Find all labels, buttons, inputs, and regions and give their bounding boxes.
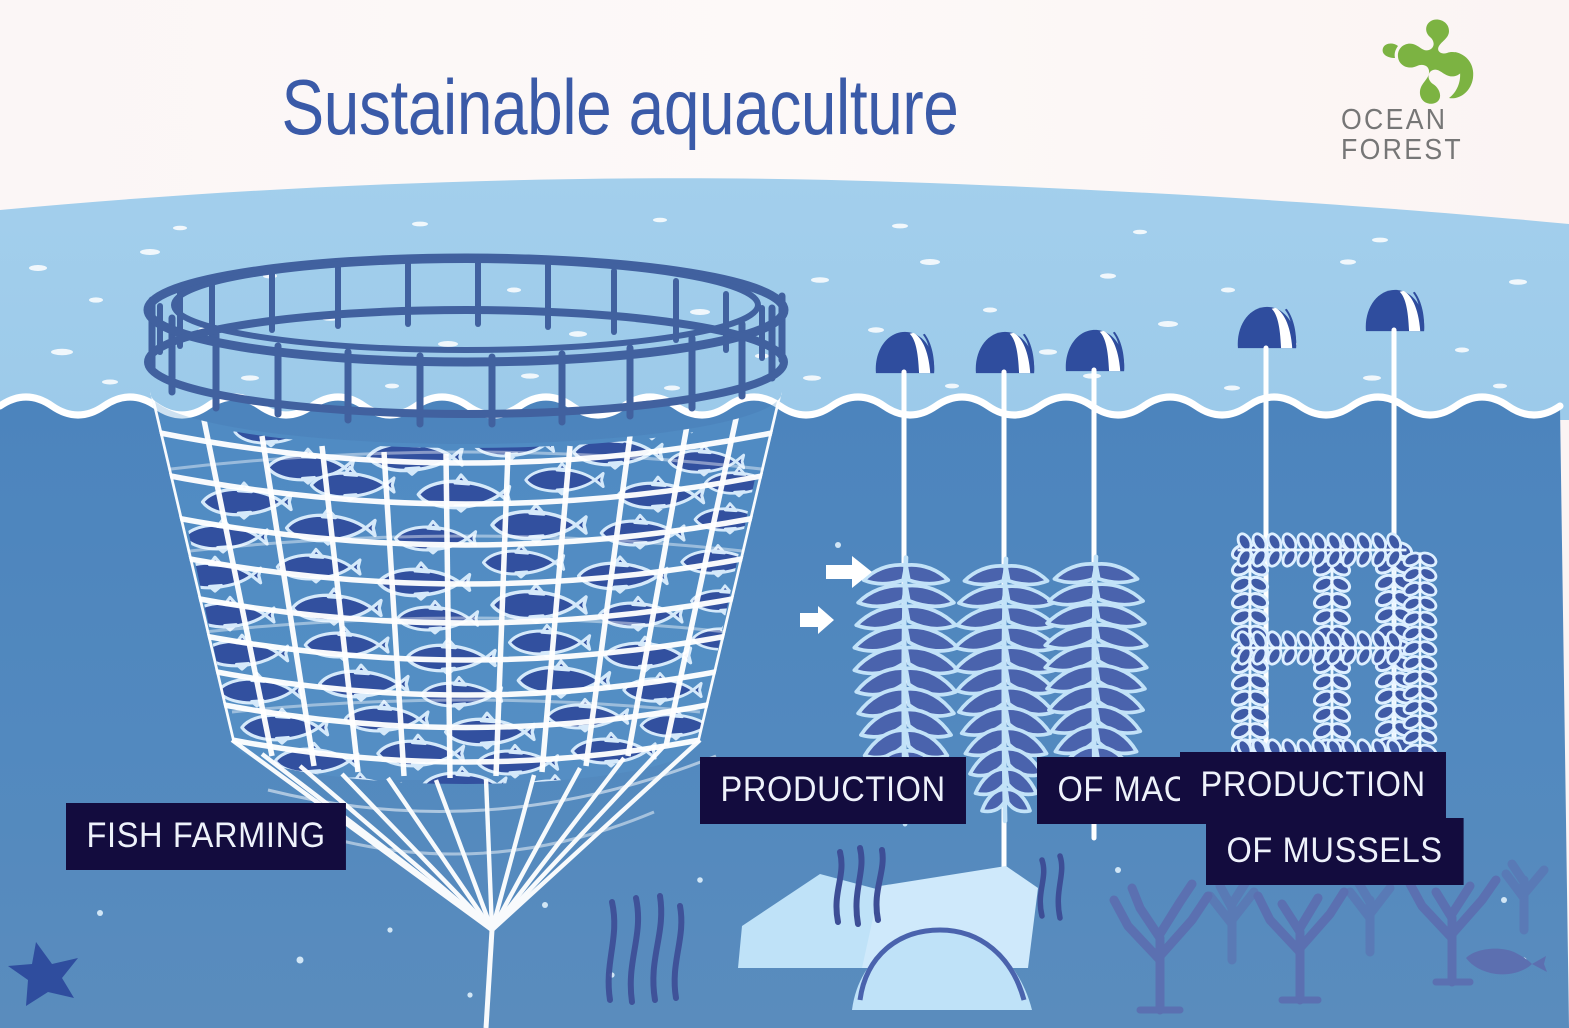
page-title: Sustainable aquaculture: [112, 62, 1129, 153]
label-mussels-line1: PRODUCTION: [1180, 752, 1446, 819]
coral-3: [1258, 892, 1344, 1000]
seaweed-kelp-mark: [1371, 18, 1491, 104]
coral-4: [1350, 882, 1390, 952]
coral-2: [1210, 882, 1254, 960]
seabed-rocks: [738, 866, 1038, 1010]
label-mussels: PRODUCTION OF MUSSELS: [1180, 752, 1569, 885]
logo-text-forest: FOREST: [1341, 136, 1479, 164]
starfish: [8, 942, 78, 1006]
seagrass-clump-right: [1040, 856, 1061, 918]
label-macro-algae-line1: PRODUCTION: [700, 757, 966, 824]
label-fish-farming-line1: FISH FARMING: [66, 803, 346, 870]
coral-1: [1114, 884, 1208, 1010]
label-mussels-line2: OF MUSSELS: [1206, 818, 1463, 885]
infographic-canvas: Sustainable aquaculture OCEAN FOREST FIS…: [0, 0, 1569, 1028]
logo-text-ocean: OCEAN: [1341, 106, 1479, 134]
label-fish-farming: FISH FARMING: [66, 803, 367, 870]
ocean-forest-logo: OCEAN FOREST: [1341, 18, 1491, 165]
bottom-fish: [1466, 949, 1547, 975]
seagrass-clump-left: [609, 896, 682, 1002]
